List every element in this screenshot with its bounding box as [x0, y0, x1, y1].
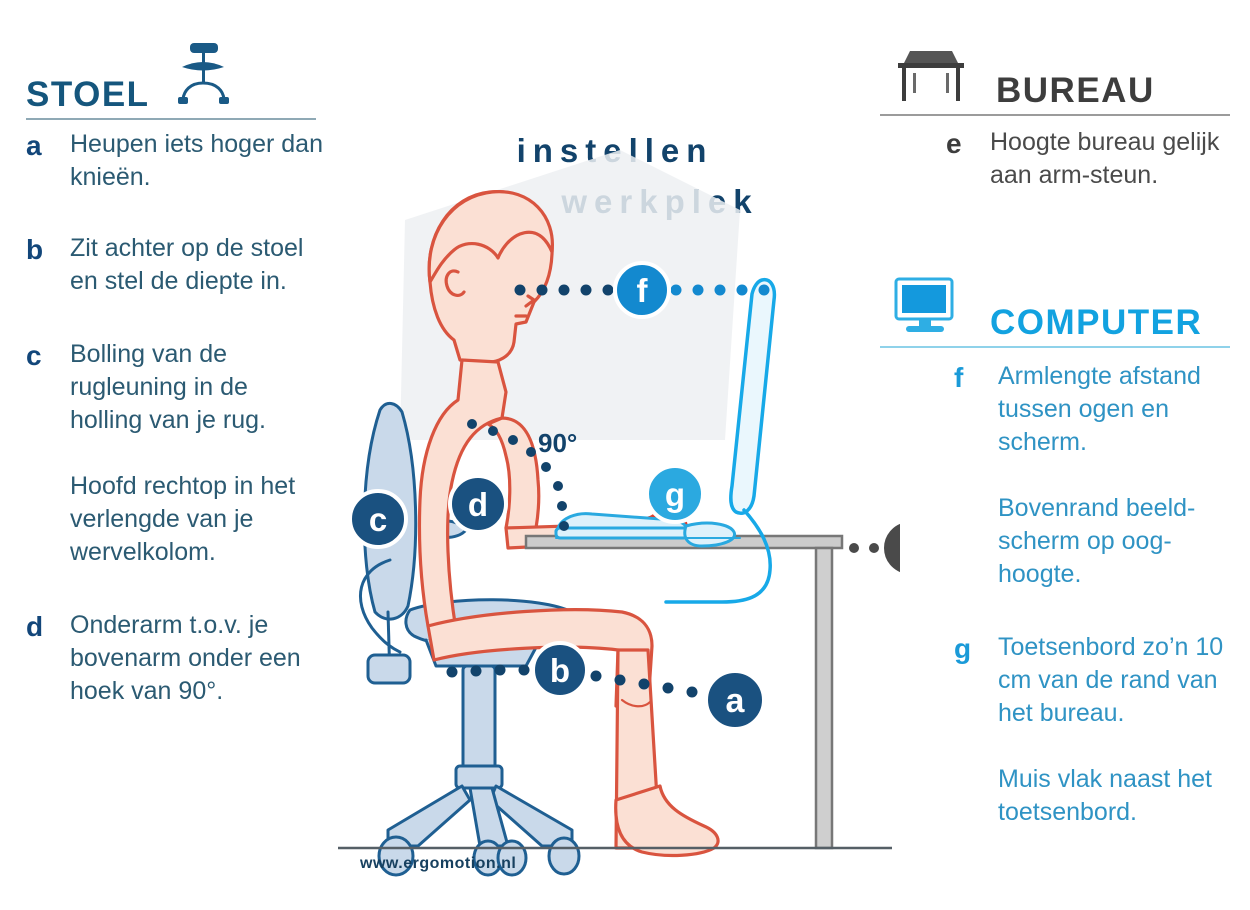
badge-a-label: a [726, 682, 746, 720]
stoel-item-d-p1: Onderarm t.o.v. je bovenarm onder een ho… [70, 609, 326, 708]
stoel-item-b-p1: Zit achter op de stoel en stel de diepte… [70, 232, 326, 298]
computer-item-f-key: f [954, 360, 998, 397]
bureau-title: BUREAU [996, 73, 1155, 108]
guide-dots-angle-lower [553, 481, 569, 531]
stoel-item-a-key: a [26, 128, 70, 165]
computer-item-g-p1: Toetsenbord zo’n 10 cm van de rand van h… [998, 631, 1244, 730]
computer-title: COMPUTER [990, 305, 1202, 340]
office-chair-icon [172, 39, 234, 114]
stoel-item-c-body: Bolling van de rugleuning in de holling … [70, 338, 326, 569]
computer-item-list: f Armlengte afstand tussen ogen en scher… [954, 360, 1244, 829]
badge-f-label: f [637, 272, 649, 309]
computer-item-f-body: Armlengte afstand tussen ogen en scherm.… [998, 360, 1244, 591]
badge-c-label: c [369, 501, 387, 538]
illustration-svg: 90° a b c d e f g [330, 0, 900, 910]
stoel-item-c-p1: Bolling van de rugleuning in de holling … [70, 338, 326, 437]
badge-c: c [350, 491, 406, 547]
mouse [685, 523, 735, 546]
stoel-item-b-key: b [26, 232, 70, 269]
computer-section-header: COMPUTER [890, 278, 1230, 340]
bureau-item-e-p1: Hoogte bureau gelijk aan arm-steun. [990, 126, 1236, 192]
bureau-item-list: e Hoogte bureau gelijk aan arm-steun. [946, 126, 1236, 192]
keyboard-base [556, 528, 688, 538]
stoel-item-a: a Heupen iets hoger dan knieën. [26, 128, 326, 194]
stoel-item-c: c Bolling van de rugleuning in de hollin… [26, 338, 326, 569]
monitor-screen [731, 280, 775, 514]
computer-item-g: g Toetsenbord zo’n 10 cm van de rand van… [954, 631, 1244, 829]
stoel-item-d-key: d [26, 609, 70, 646]
badge-f: f [615, 263, 669, 317]
person-shoe [616, 786, 718, 855]
badge-g: g [647, 466, 703, 522]
stoel-divider [26, 118, 316, 120]
angle-label: 90° [538, 428, 577, 458]
computer-item-f: f Armlengte afstand tussen ogen en scher… [954, 360, 1244, 591]
chair-armrest-pad [368, 655, 410, 683]
badge-e: e [882, 520, 900, 576]
stoel-column: STOEL a Heupen iets hoger dan knieën. [26, 0, 326, 910]
bureau-item-e: e Hoogte bureau gelijk aan arm-steun. [946, 126, 1236, 192]
computer-item-g-body: Toetsenbord zo’n 10 cm van de rand van h… [998, 631, 1244, 829]
badge-b-label: b [550, 652, 570, 689]
stoel-item-b-body: Zit achter op de stoel en stel de diepte… [70, 232, 326, 298]
computer-item-g-key: g [954, 631, 998, 668]
badge-g-label: g [665, 476, 685, 513]
computer-item-g-p2: Muis vlak naast het toetsenbord. [998, 763, 1244, 829]
stoel-item-c-p2: Hoofd rechtop in het verlengde van je we… [70, 470, 326, 569]
badge-d-label: d [468, 486, 488, 523]
stoel-title: STOEL [26, 77, 150, 112]
computer-item-f-p1: Armlengte afstand tussen ogen en scherm. [998, 360, 1244, 459]
stoel-item-d: d Onderarm t.o.v. je bovenarm onder een … [26, 609, 326, 708]
stoel-item-list: a Heupen iets hoger dan knieën. b Zit ac… [26, 128, 326, 708]
guide-dots-e [849, 543, 879, 553]
desk-icon [890, 43, 972, 110]
chair-base-hub [456, 766, 502, 788]
chair-castor-right [549, 838, 579, 874]
monitor-icon [890, 275, 966, 342]
stoel-section-header: STOEL [26, 52, 326, 112]
website-url: www.ergomotion.nl [360, 855, 516, 873]
badge-d: d [450, 476, 506, 532]
badge-b: b [533, 643, 587, 697]
workplace-illustration: instellen werkplek [330, 0, 900, 910]
bureau-section-header: BUREAU [890, 48, 1230, 108]
computer-item-f-p2: Bovenrand beeld-scherm op oog-hoogte. [998, 492, 1244, 591]
bureau-item-e-body: Hoogte bureau gelijk aan arm-steun. [990, 126, 1236, 192]
stoel-item-a-p1: Heupen iets hoger dan knieën. [70, 128, 326, 194]
bureau-item-e-key: e [946, 126, 990, 163]
computer-divider [880, 346, 1230, 348]
stoel-item-c-key: c [26, 338, 70, 375]
chair-gas-cylinder [463, 666, 495, 770]
stoel-item-d-body: Onderarm t.o.v. je bovenarm onder een ho… [70, 609, 326, 708]
badge-a: a [706, 671, 764, 729]
stoel-item-a-body: Heupen iets hoger dan knieën. [70, 128, 326, 194]
desk-leg [816, 548, 832, 848]
bureau-divider [880, 114, 1230, 116]
stoel-item-b: b Zit achter op de stoel en stel de diep… [26, 232, 326, 298]
right-column: BUREAU e Hoogte bureau gelijk aan arm-st… [890, 0, 1230, 910]
